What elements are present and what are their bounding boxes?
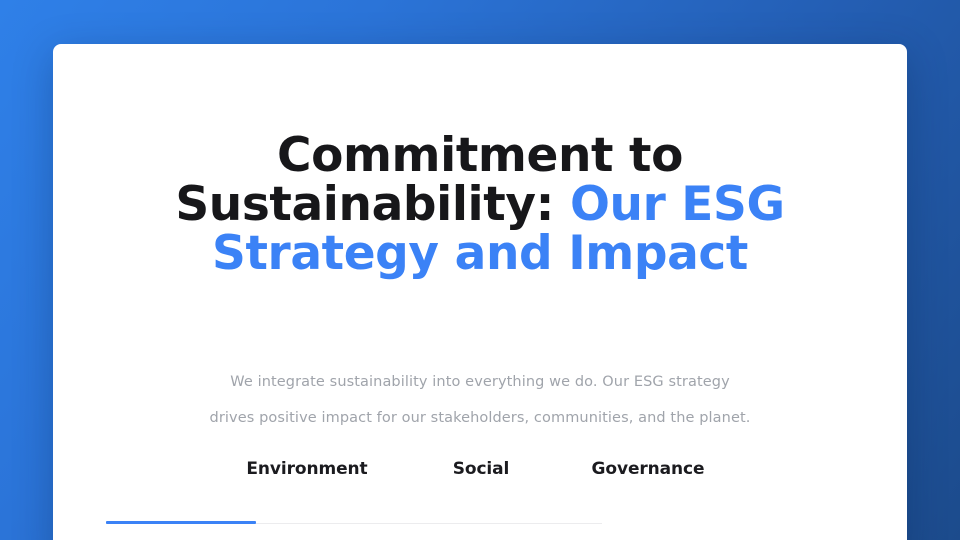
heading-line-3: Strategy and Impact (53, 229, 907, 278)
heading-line-2-accent: Our ESG (570, 177, 785, 232)
heading-line-2: Sustainability: Our ESG (53, 180, 907, 229)
heading-line-1: Commitment to (53, 131, 907, 180)
page-title: Commitment to Sustainability: Our ESG St… (53, 131, 907, 278)
heading-line-2-plain: Sustainability: (175, 177, 554, 232)
hero-card: Commitment to Sustainability: Our ESG St… (53, 44, 907, 540)
tab-social[interactable]: Social (406, 459, 556, 488)
hero-subtitle: We integrate sustainability into everyth… (53, 364, 907, 436)
subtitle-line-1: We integrate sustainability into everyth… (53, 364, 907, 400)
tab-active-indicator (106, 521, 256, 524)
tab-governance[interactable]: Governance (568, 459, 728, 488)
tab-environment[interactable]: Environment (232, 459, 382, 488)
tab-list: Environment Social Governance (232, 448, 728, 488)
subtitle-line-2: drives positive impact for our stakehold… (53, 400, 907, 436)
tab-bar: Environment Social Governance (232, 448, 728, 488)
